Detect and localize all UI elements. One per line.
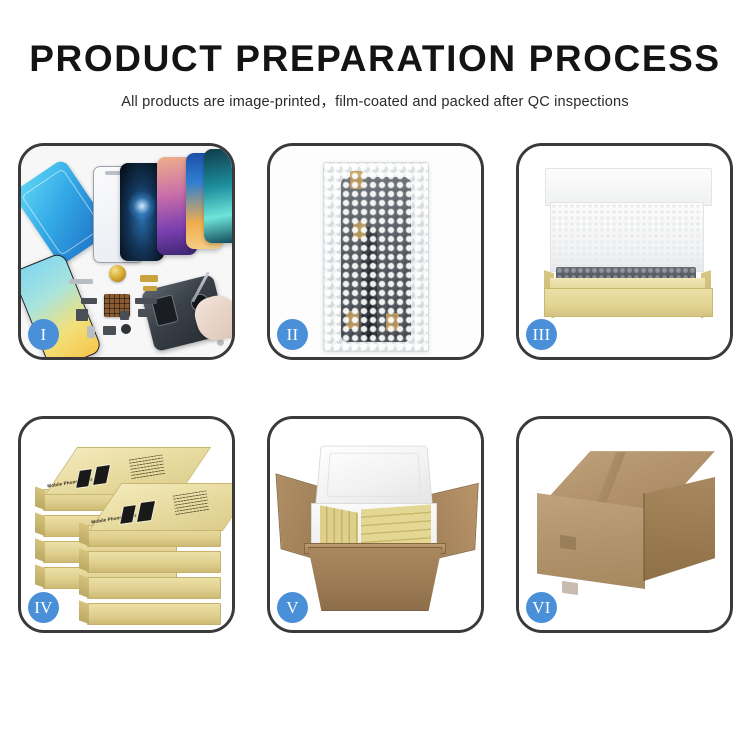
process-step-panel-2[interactable]: II [267, 143, 484, 360]
stacked-box-edge [87, 577, 221, 599]
process-step-panel-1[interactable]: I [18, 143, 235, 360]
process-step-panel-5[interactable]: V [267, 416, 484, 633]
bubble-texture-highlight [324, 163, 428, 351]
spare-part-icon [87, 326, 95, 338]
bubble-wrap-bag-icon [323, 162, 429, 352]
sealed-carton-left-face [537, 493, 645, 589]
spare-part-icon [121, 324, 131, 334]
stacked-box-edge [87, 551, 221, 573]
process-steps-row-bottom: Mobile Phone Spare Parts Mobile Phone Sp… [0, 416, 750, 633]
carton-front-icon [308, 547, 442, 611]
spare-part-icon [138, 309, 152, 317]
spare-part-icon [81, 298, 97, 304]
process-steps-row-top: I II [0, 143, 750, 360]
spare-part-icon [120, 311, 129, 320]
step-badge-6: VI [526, 592, 557, 623]
step-badge-1: I [28, 319, 59, 350]
page-header: PRODUCT PREPARATION PROCESS All products… [0, 0, 750, 111]
process-steps-grid: I II [0, 143, 750, 633]
phone-display-teal-icon [204, 149, 232, 243]
carton-tab-icon [562, 581, 578, 595]
spare-part-icon [103, 326, 116, 335]
spare-part-icon [143, 286, 157, 291]
step-badge-5: V [277, 592, 308, 623]
carton-tab-icon [560, 535, 576, 550]
spare-part-icon [69, 279, 93, 284]
sealed-carton-right-face [644, 477, 715, 581]
white-box-lid-icon [545, 168, 712, 206]
spare-part-icon [140, 275, 158, 282]
stacked-box-edge [87, 603, 221, 625]
step-badge-3: III [526, 319, 557, 350]
spare-part-icon [135, 298, 157, 304]
process-step-panel-4[interactable]: Mobile Phone Spare Parts Mobile Phone Sp… [18, 416, 235, 633]
vibration-motor-icon [109, 265, 126, 282]
page-subtitle: All products are image-printed，film-coat… [0, 90, 750, 111]
process-step-panel-3[interactable]: III [516, 143, 733, 360]
process-step-panel-6[interactable]: VI [516, 416, 733, 633]
carton-corner-edge [643, 493, 645, 581]
step-badge-4: IV [28, 592, 59, 623]
page-title: PRODUCT PREPARATION PROCESS [0, 40, 750, 77]
spare-part-icon [76, 309, 88, 321]
yellow-box-front-icon [544, 288, 713, 317]
styrofoam-lid-icon [315, 446, 433, 508]
box-stack-icon: Mobile Phone Spare Parts Mobile Phone Sp… [25, 433, 232, 623]
foam-liner-icon [550, 202, 704, 272]
step-badge-2: II [277, 319, 308, 350]
